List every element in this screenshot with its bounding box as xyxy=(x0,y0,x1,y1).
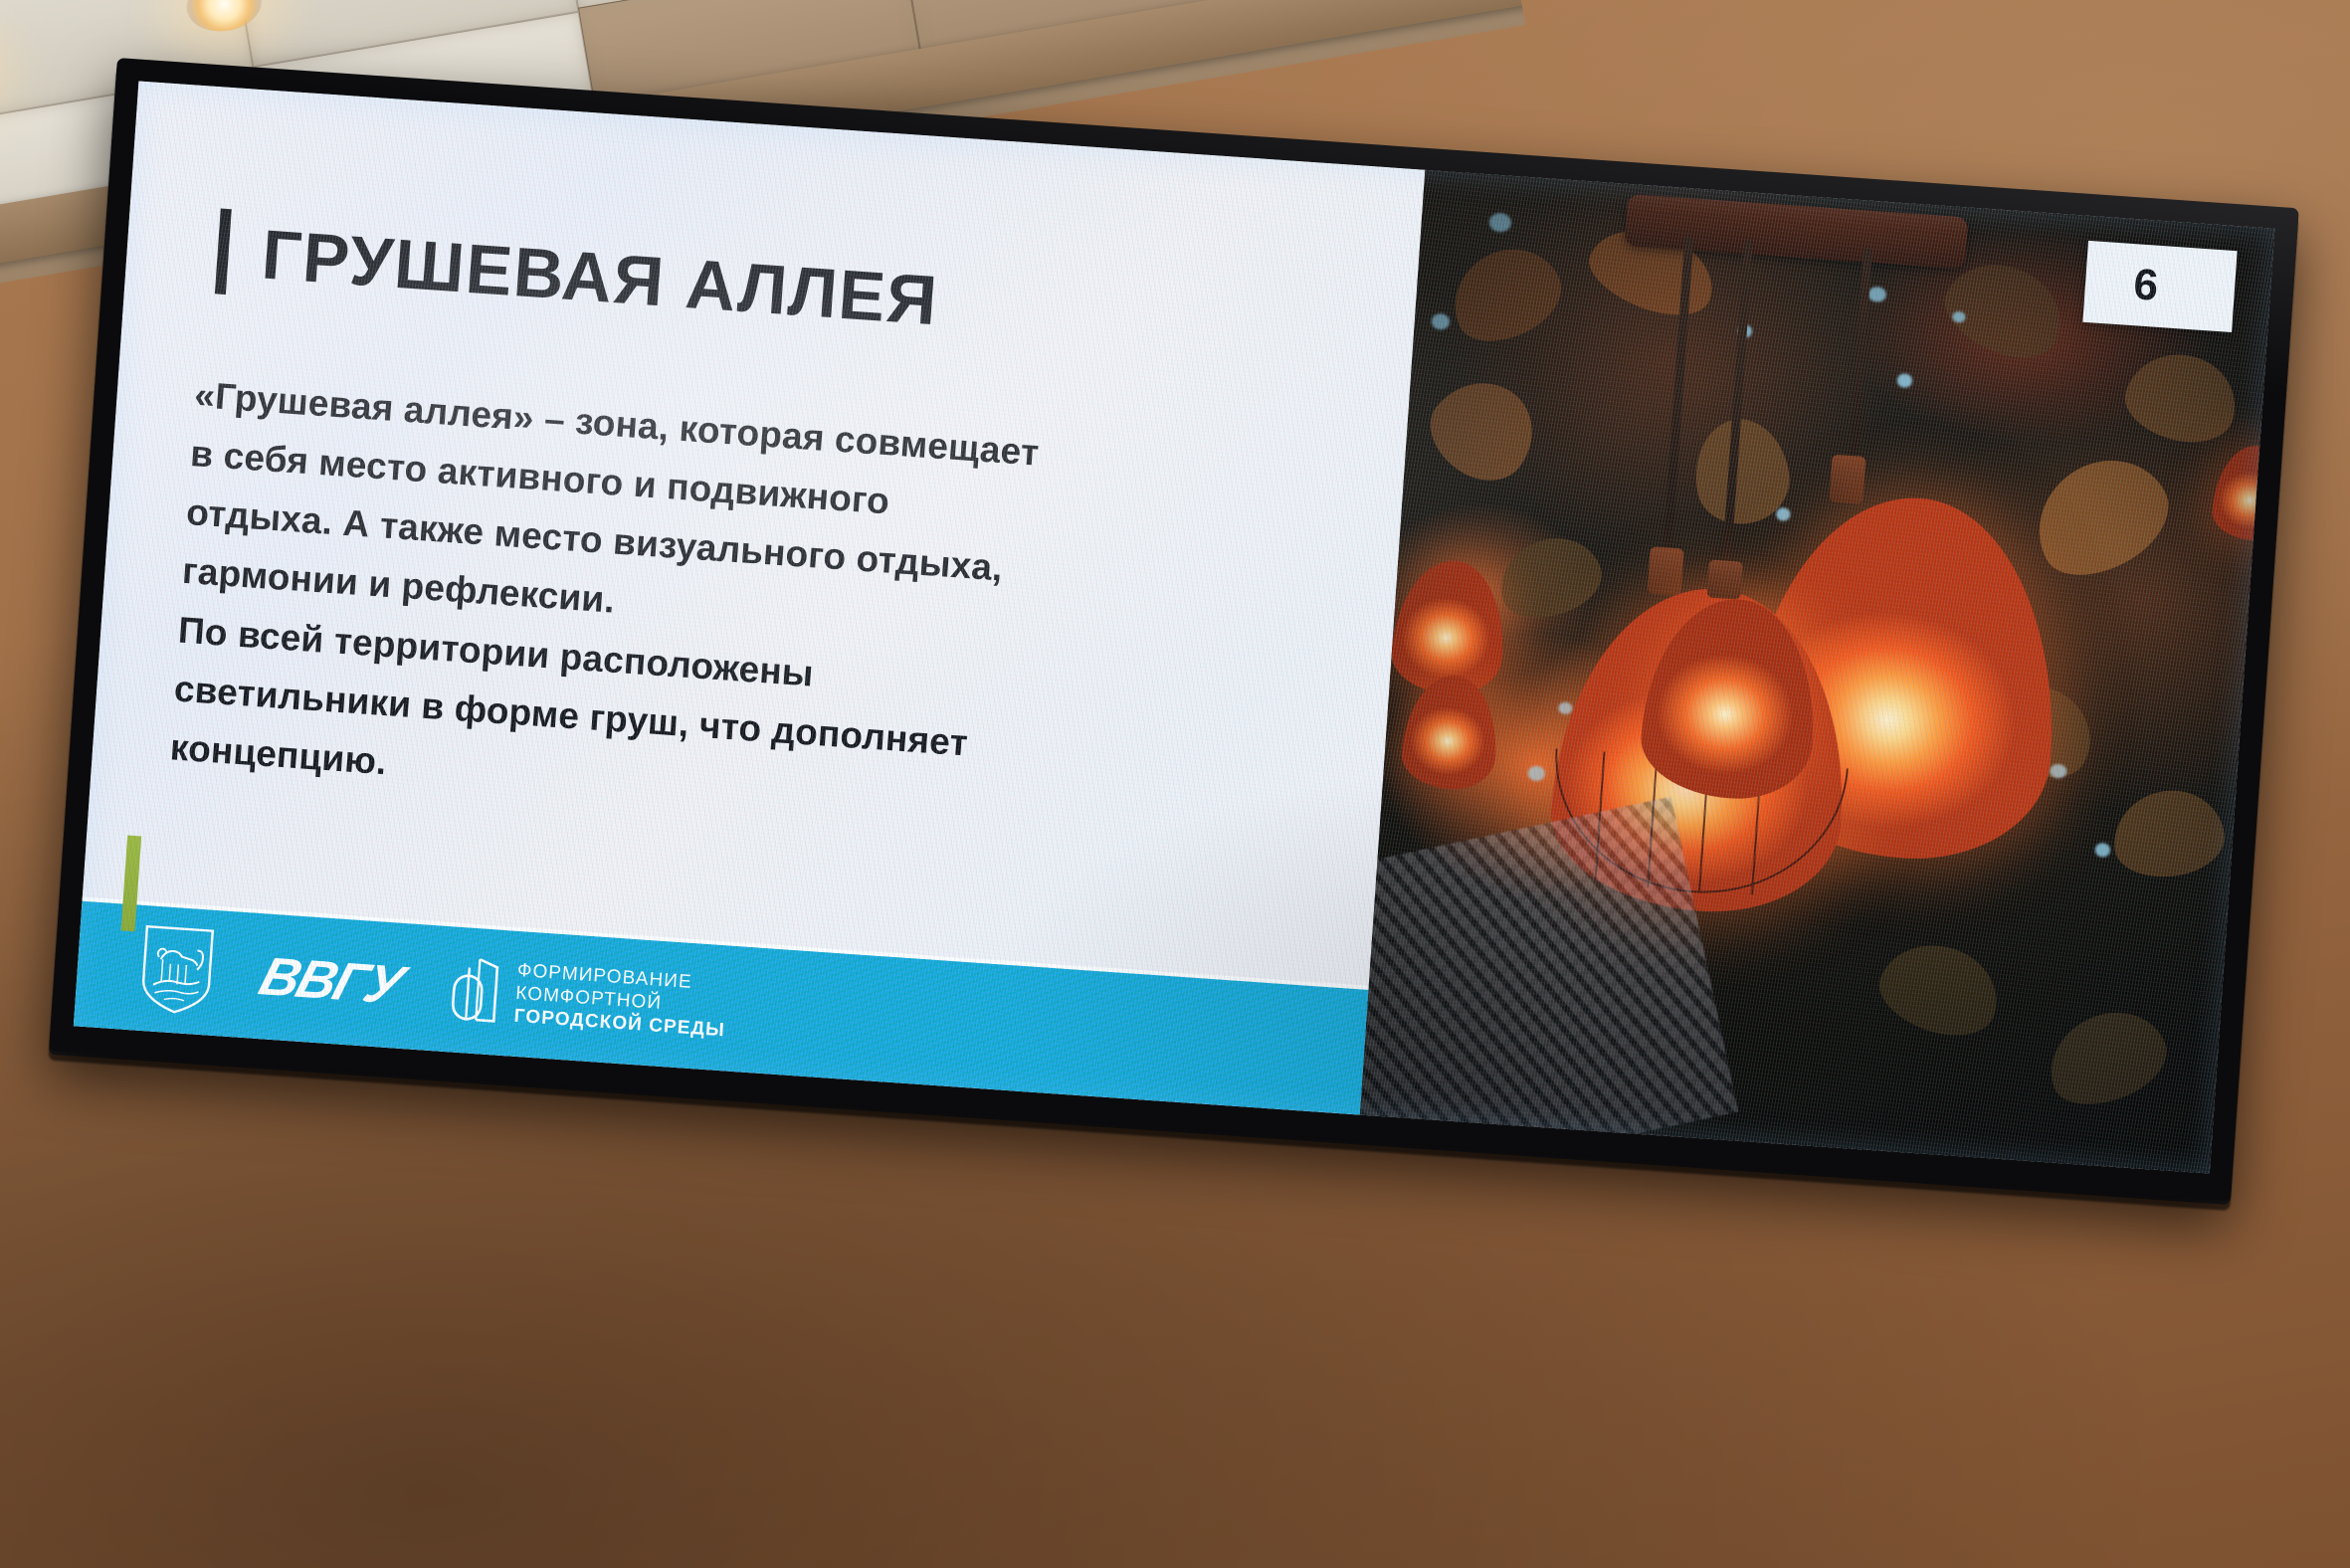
screen-panel: ГРУШЕВАЯ АЛЛЕЯ «Грушевая аллея» – зона, … xyxy=(74,82,2274,1174)
program-logo-group: ФОРМИРОВАНИЕ КОМФОРТНОЙ ГОРОДСКОЙ СРЕДЫ xyxy=(446,954,729,1043)
slide-text-column: ГРУШЕВАЯ АЛЛЕЯ «Грушевая аллея» – зона, … xyxy=(74,82,1425,1115)
slide-number: 6 xyxy=(2132,260,2160,311)
slide-title-row: ГРУШЕВАЯ АЛЛЕЯ xyxy=(215,208,941,343)
vladivostok-coat-of-arms-icon xyxy=(137,922,217,1019)
university-logo: ВВГУ xyxy=(253,946,409,1017)
display-screen[interactable]: ГРУШЕВАЯ АЛЛЕЯ «Грушевая аллея» – зона, … xyxy=(49,58,2299,1201)
slide-photo-column: 6 xyxy=(1359,170,2274,1174)
slide-number-badge: 6 xyxy=(2083,241,2238,332)
presentation-slide: ГРУШЕВАЯ АЛЛЕЯ «Грушевая аллея» – зона, … xyxy=(74,82,2274,1174)
comfortable-environment-mark-icon xyxy=(446,954,502,1027)
slide-body-text: «Грушевая аллея» – зона, которая совмеща… xyxy=(168,365,1354,857)
title-accent-bar xyxy=(215,208,232,294)
photo-scene: ГРУШЕВАЯ АЛЛЕЯ «Грушевая аллея» – зона, … xyxy=(0,0,2350,1568)
page-title: ГРУШЕВАЯ АЛЛЕЯ xyxy=(260,214,941,340)
program-name: ФОРМИРОВАНИЕ КОМФОРТНОЙ ГОРОДСКОЙ СРЕДЫ xyxy=(513,960,729,1043)
